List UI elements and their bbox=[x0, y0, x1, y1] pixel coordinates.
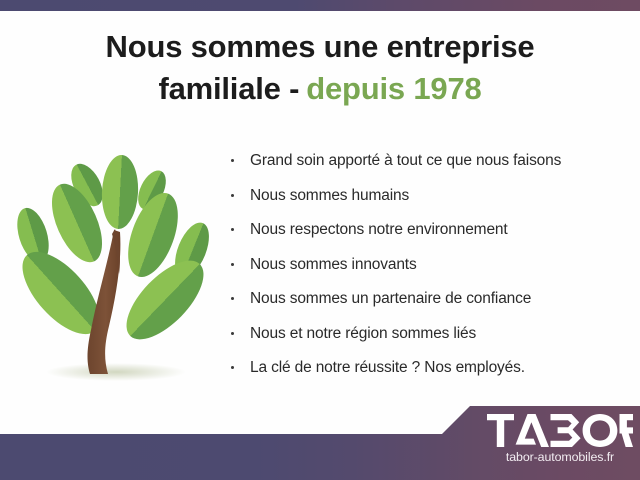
bullet-dot-icon bbox=[231, 297, 234, 300]
headline-line-1: Nous sommes une entreprise bbox=[0, 26, 640, 68]
page-title: Nous sommes une entreprise familiale -de… bbox=[0, 26, 640, 109]
list-item: Grand soin apporté à tout ce que nous fa… bbox=[228, 150, 628, 172]
headline-line-2-black: familiale - bbox=[158, 71, 299, 106]
list-item-label: Nous et notre région sommes liés bbox=[250, 325, 476, 342]
tree-illustration bbox=[8, 150, 223, 395]
list-item-label: Nous respectons notre environnement bbox=[250, 221, 508, 238]
list-item: La clé de notre réussite ? Nos employés. bbox=[228, 357, 628, 379]
brand-logo: tabor-automobiles.fr bbox=[487, 414, 633, 464]
list-item: Nous sommes humains bbox=[228, 185, 628, 207]
tree-shadow bbox=[46, 363, 186, 381]
bullet-dot-icon bbox=[231, 228, 234, 231]
list-item: Nous sommes innovants bbox=[228, 254, 628, 276]
list-item: Nous respectons notre environnement bbox=[228, 219, 628, 241]
bullet-dot-icon bbox=[231, 366, 234, 369]
list-item: Nous et notre région sommes liés bbox=[228, 323, 628, 345]
list-item-label: Nous sommes un partenaire de confiance bbox=[250, 290, 531, 307]
headline-line-2: familiale -depuis 1978 bbox=[0, 68, 640, 110]
headline-line-2-accent: depuis 1978 bbox=[306, 71, 481, 106]
bullet-dot-icon bbox=[231, 159, 234, 162]
tabor-wordmark-glyphs bbox=[487, 414, 633, 447]
bullet-dot-icon bbox=[231, 332, 234, 335]
bullet-dot-icon bbox=[231, 263, 234, 266]
slide-canvas: Nous sommes une entreprise familiale -de… bbox=[0, 0, 640, 480]
list-item-label: Grand soin apporté à tout ce que nous fa… bbox=[250, 152, 561, 169]
top-accent-bar bbox=[0, 0, 640, 11]
list-item-label: La clé de notre réussite ? Nos employés. bbox=[250, 359, 525, 376]
brand-url: tabor-automobiles.fr bbox=[487, 450, 633, 464]
list-item-label: Nous sommes humains bbox=[250, 187, 409, 204]
list-item: Nous sommes un partenaire de confiance bbox=[228, 288, 628, 310]
benefits-list: Grand soin apporté à tout ce que nous fa… bbox=[228, 150, 628, 392]
list-item-label: Nous sommes innovants bbox=[250, 256, 417, 273]
bullet-dot-icon bbox=[231, 194, 234, 197]
